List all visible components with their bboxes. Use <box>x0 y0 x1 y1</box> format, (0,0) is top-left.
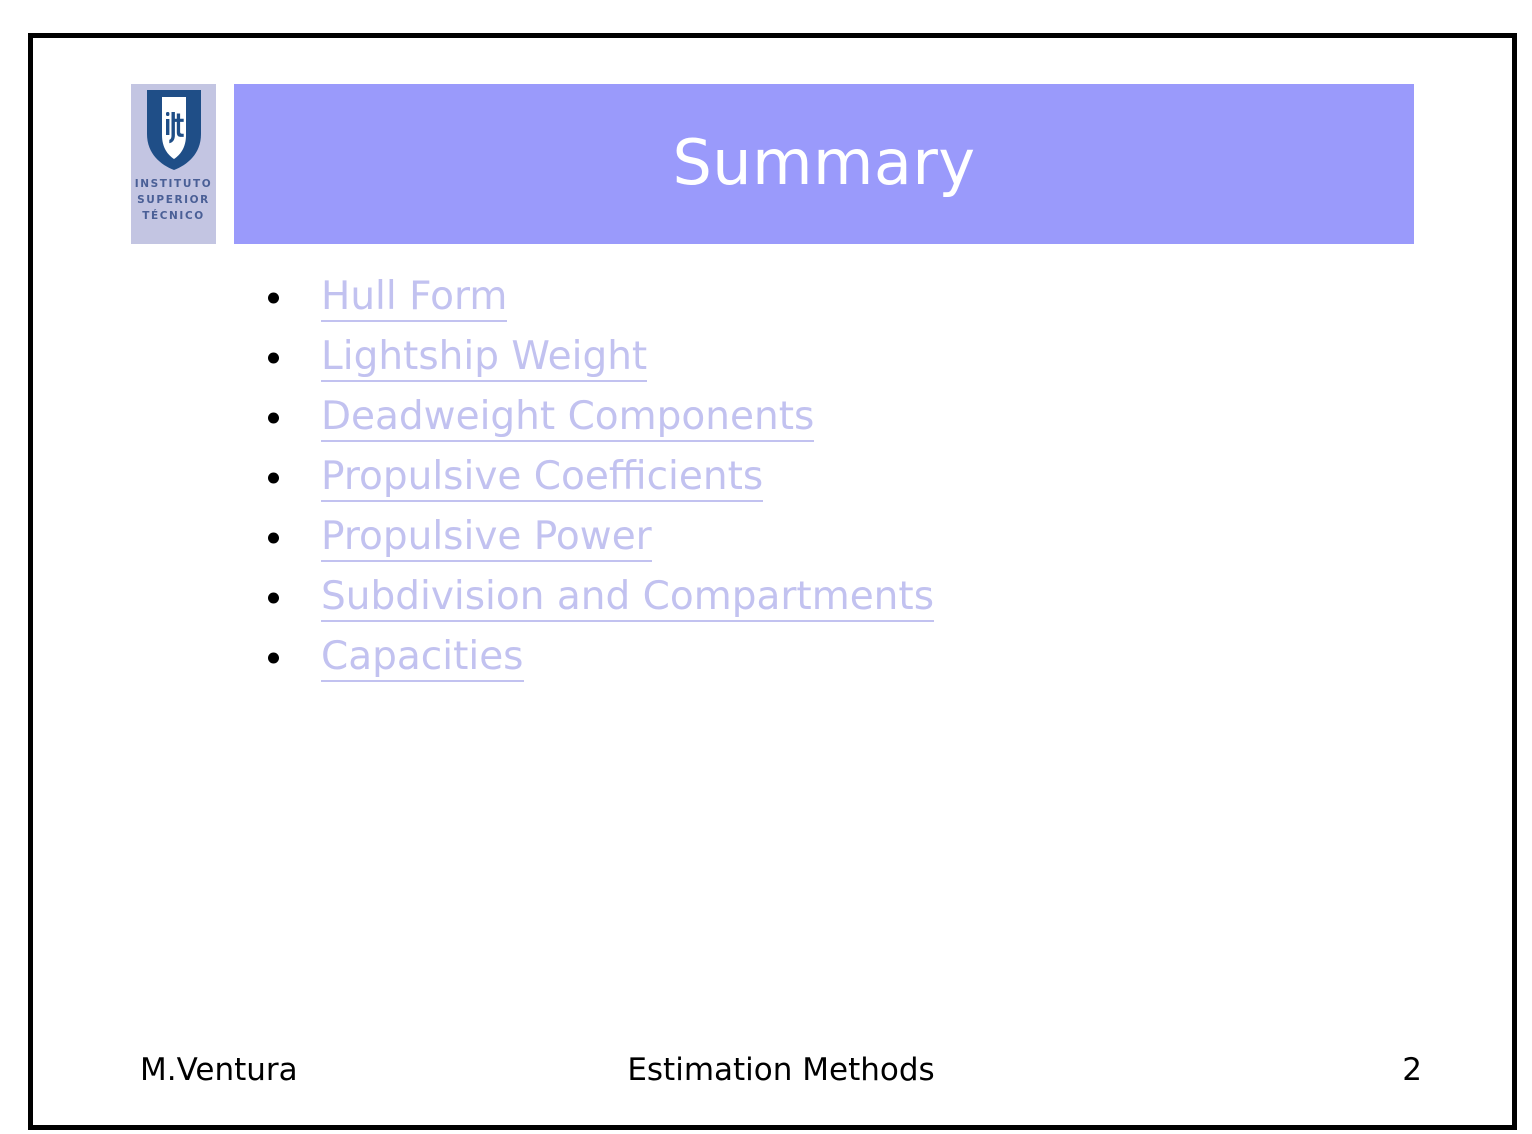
ist-logo: INSTITUTO SUPERIOR TÉCNICO <box>131 84 216 244</box>
list-item[interactable]: Propulsive Power <box>262 508 1382 568</box>
link-hull-form[interactable]: Hull Form <box>321 275 507 322</box>
summary-link-list: Hull Form Lightship Weight Deadweight Co… <box>262 268 1382 688</box>
slide-footer: M.Ventura Estimation Methods 2 <box>140 1050 1422 1090</box>
bullet-icon <box>268 653 279 664</box>
link-propulsive-coefficients[interactable]: Propulsive Coefficients <box>321 455 763 502</box>
list-item[interactable]: Lightship Weight <box>262 328 1382 388</box>
list-item[interactable]: Hull Form <box>262 268 1382 328</box>
bullet-icon <box>268 473 279 484</box>
list-item[interactable]: Deadweight Components <box>262 388 1382 448</box>
slide: INSTITUTO SUPERIOR TÉCNICO Summary Hull … <box>0 0 1532 1134</box>
list-item[interactable]: Subdivision and Compartments <box>262 568 1382 628</box>
ist-shield-icon <box>145 88 203 172</box>
bullet-icon <box>268 293 279 304</box>
logo-line-1: INSTITUTO <box>131 176 216 192</box>
ist-logo-text: INSTITUTO SUPERIOR TÉCNICO <box>131 176 216 224</box>
link-subdivision-and-compartments[interactable]: Subdivision and Compartments <box>321 575 934 622</box>
link-propulsive-power[interactable]: Propulsive Power <box>321 515 652 562</box>
list-item[interactable]: Propulsive Coefficients <box>262 448 1382 508</box>
link-lightship-weight[interactable]: Lightship Weight <box>321 335 647 382</box>
list-item[interactable]: Capacities <box>262 628 1382 688</box>
footer-page-number: 2 <box>1402 1050 1422 1090</box>
link-capacities[interactable]: Capacities <box>321 635 524 682</box>
footer-subject: Estimation Methods <box>140 1050 1422 1090</box>
page-title: Summary <box>234 126 1414 199</box>
logo-line-3: TÉCNICO <box>131 208 216 224</box>
bullet-icon <box>268 593 279 604</box>
title-bar: Summary <box>234 84 1414 244</box>
logo-line-2: SUPERIOR <box>131 192 216 208</box>
link-deadweight-components[interactable]: Deadweight Components <box>321 395 814 442</box>
bullet-icon <box>268 533 279 544</box>
bullet-icon <box>268 413 279 424</box>
bullet-icon <box>268 353 279 364</box>
